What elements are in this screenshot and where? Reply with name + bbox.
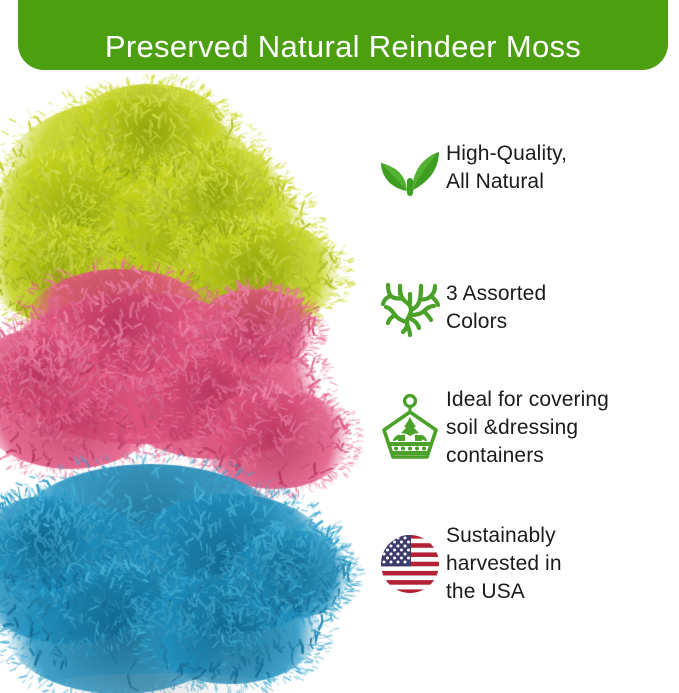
moss-piles-image xyxy=(0,74,370,693)
feature-label: Sustainably harvested in the USA xyxy=(446,522,562,606)
page-title: Preserved Natural Reindeer Moss xyxy=(105,31,581,62)
product-photo xyxy=(0,74,370,693)
feature-label: 3 Assorted Colors xyxy=(446,280,546,336)
feature-item-usa-harvested: Sustainably harvested in the USA xyxy=(374,522,679,606)
feature-label: Ideal for covering soil &dressing contai… xyxy=(446,386,609,470)
feature-list: High-Quality, All Natural xyxy=(374,74,679,693)
coral-moss-icon xyxy=(374,272,446,344)
main-content: High-Quality, All Natural xyxy=(0,74,679,693)
usa-flag-circle-icon xyxy=(374,528,446,600)
hanging-planter-icon xyxy=(374,392,446,464)
feature-item-high-quality: High-Quality, All Natural xyxy=(374,132,679,204)
header-banner: Preserved Natural Reindeer Moss xyxy=(18,0,668,70)
feature-item-ideal-for-covering: Ideal for covering soil &dressing contai… xyxy=(374,386,679,470)
feature-item-assorted-colors: 3 Assorted Colors xyxy=(374,272,679,344)
feature-label: High-Quality, All Natural xyxy=(446,140,567,196)
leaf-sprout-icon xyxy=(374,132,446,204)
